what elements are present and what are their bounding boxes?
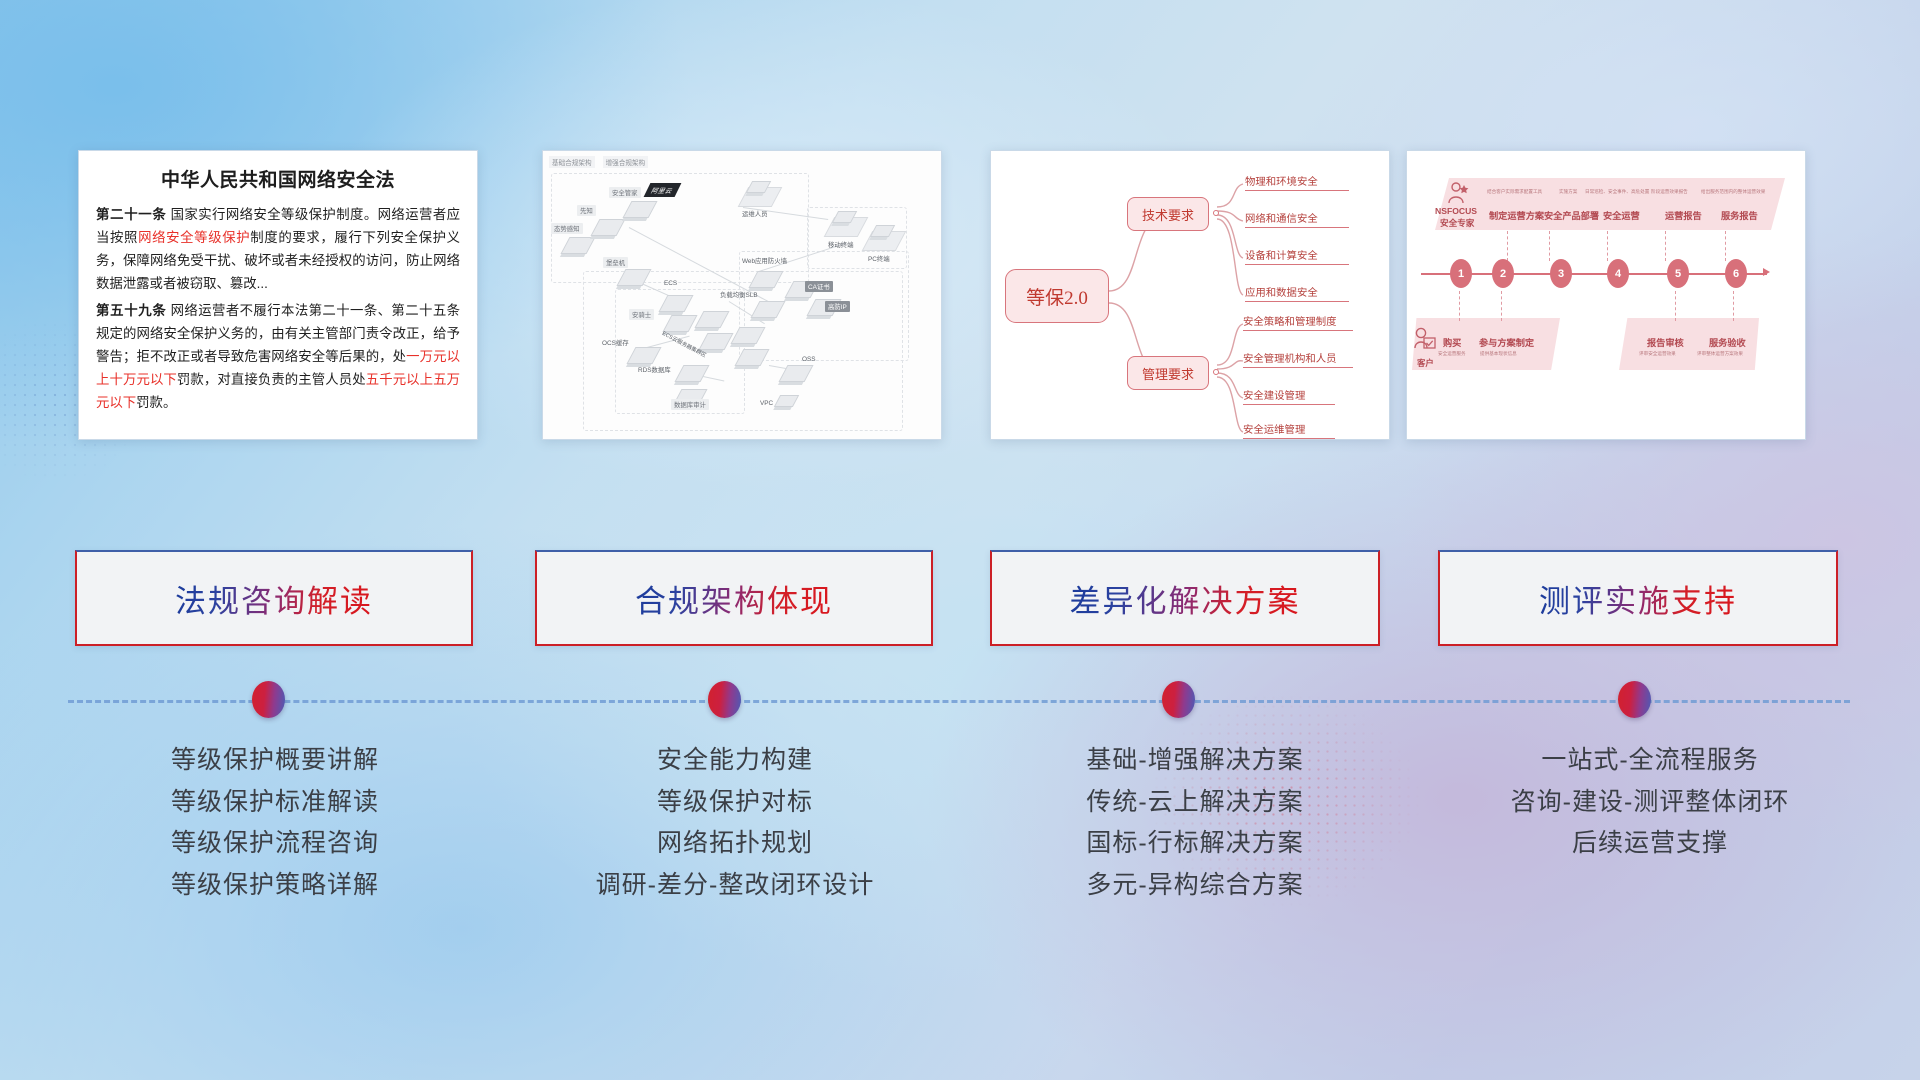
nsfocus-step-3: 3 <box>1550 259 1572 288</box>
heading-box-regulation-consulting[interactable]: 法规咨询解读 <box>75 550 473 646</box>
nsfocus-step-1: 1 <box>1450 259 1472 288</box>
list-item: 网络拓扑规划 <box>530 823 940 865</box>
label-oss: OSS <box>799 355 819 364</box>
tab-enhanced-architecture: 增强合规架构 <box>603 156 649 168</box>
label-ops-person: 运维人员 <box>739 208 771 219</box>
card-mindmap-dengbao[interactable]: 等保2.0 技术要求 管理要求 物理和环境安全 网络和通信安全 设备和计算安全 … <box>990 150 1390 440</box>
nsfocus-top-title-4: 运营报告 <box>1665 208 1702 222</box>
card-cloud-architecture[interactable]: 基础合规架构 增强合规架构 阿里云 运维人员 <box>542 150 942 440</box>
heading-label-2: 合规架构体现 <box>635 576 833 621</box>
label-mobile: 移动终端 <box>825 239 857 250</box>
article-21-label: 第二十一条 <box>96 207 167 222</box>
nsfocus-bottom-title-4: 服务验收 <box>1709 335 1746 349</box>
label-slb: 负载均衡SLB <box>717 289 761 300</box>
heading-label-1: 法规咨询解读 <box>175 576 373 621</box>
list-item: 咨询-建设-测评整体闭环 <box>1440 782 1860 824</box>
mindmap-leaf-policy-system: 安全策略和管理制度 <box>1243 313 1353 331</box>
list-item: 调研-差分-整改闭环设计 <box>530 865 940 907</box>
nsfocus-dash-5 <box>1725 231 1726 261</box>
screenshot-card-row: 中华人民共和国网络安全法 第二十一条 国家实行网络安全等级保护制度。网络运营者应… <box>0 150 1920 450</box>
label-rds: RDS数据库 <box>635 364 674 375</box>
nsfocus-customer-label: 客户 <box>1417 357 1434 369</box>
timeline-dashed-line <box>68 700 1850 703</box>
label-anqishi: 安骑士 <box>629 309 654 320</box>
detail-column-4: 一站式-全流程服务 咨询-建设-测评整体闭环 后续运营支撑 <box>1440 740 1860 865</box>
nsfocus-step-5: 5 <box>1667 259 1689 288</box>
label-security-butler: 安全管家 <box>609 187 641 198</box>
nsfocus-top-sub-5: 给出服务范围内的整体运营效果 <box>1701 189 1765 195</box>
nsfocus-bottom-title-2: 参与方案制定 <box>1479 335 1534 349</box>
article-21-highlight: 网络安全等级保护 <box>138 230 250 245</box>
nsfocus-dash-b4 <box>1733 291 1734 321</box>
law-document: 中华人民共和国网络安全法 第二十一条 国家实行网络安全等级保护制度。网络运营者应… <box>79 151 477 428</box>
label-situational-awareness: 态势感知 <box>551 223 583 234</box>
nsfocus-top-title-3: 安全运营 <box>1603 208 1640 222</box>
nsfocus-top-sub-3: 日常巡检、安全事件、高危处置 <box>1585 189 1649 195</box>
nsfocus-axis-arrow <box>1763 268 1770 276</box>
nsfocus-dash-4 <box>1665 231 1666 261</box>
detail-list-row: 等级保护概要讲解 等级保护标准解读 等级保护流程咨询 等级保护策略详解 安全能力… <box>0 740 1920 1000</box>
list-item: 传统-云上解决方案 <box>990 782 1400 824</box>
list-item: 等级保护策略详解 <box>75 865 475 907</box>
list-item: 国标-行标解决方案 <box>990 823 1400 865</box>
nsfocus-dash-2 <box>1549 231 1550 261</box>
label-anti-ddos: 高防IP <box>825 301 850 312</box>
detail-column-1: 等级保护概要讲解 等级保护标准解读 等级保护流程咨询 等级保护策略详解 <box>75 740 475 906</box>
nsfocus-top-sub-2: 实施方案 <box>1559 189 1577 195</box>
law-article-21: 第二十一条 国家实行网络安全等级保护制度。网络运营者应当按照网络安全等级保护制度… <box>96 203 460 295</box>
customer-person-icon <box>1413 327 1437 357</box>
law-title: 中华人民共和国网络安全法 <box>96 165 460 192</box>
label-ca-cert: CA证书 <box>805 281 833 292</box>
nsfocus-top-title-5: 服务报告 <box>1721 208 1758 222</box>
nsfocus-top-title-1: 制定运营方案 <box>1489 208 1544 222</box>
expert-person-icon <box>1445 181 1471 207</box>
nsfocus-expert-line1: NSFOCUS <box>1435 206 1477 216</box>
nsfocus-step-2: 2 <box>1492 259 1514 288</box>
mindmap-leaf-network-comm: 网络和通信安全 <box>1245 210 1349 228</box>
label-waf: Web应用防火墙 <box>739 255 790 266</box>
nsfocus-dash-1 <box>1507 231 1508 261</box>
heading-box-row: 法规咨询解读 合规架构体现 差异化解决方案 测评实施支持 <box>0 550 1920 650</box>
mindmap-collapse-dot-management[interactable] <box>1213 369 1219 375</box>
timeline-dot-2[interactable] <box>708 681 741 718</box>
mindmap-leaf-app-data: 应用和数据安全 <box>1245 284 1349 302</box>
nsfocus-bottom-sub-3: 评审安全运营效果 <box>1639 351 1676 357</box>
heading-label-3: 差异化解决方案 <box>1070 576 1301 621</box>
card-cybersecurity-law[interactable]: 中华人民共和国网络安全法 第二十一条 国家实行网络安全等级保护制度。网络运营者应… <box>78 150 478 440</box>
heading-box-differentiated-solution[interactable]: 差异化解决方案 <box>990 550 1380 646</box>
label-xianzhi: 先知 <box>577 205 596 216</box>
nsfocus-axis-line <box>1421 273 1767 275</box>
law-article-59: 第五十九条 网络运营者不履行本法第二十一条、第二十五条规定的网络安全保护义务的，… <box>96 299 460 414</box>
label-bastion-host: 堡垒机 <box>603 257 628 268</box>
list-item: 等级保护流程咨询 <box>75 823 475 865</box>
nsfocus-bottom-title-3: 报告审核 <box>1647 335 1684 349</box>
mindmap-collapse-dot-technical[interactable] <box>1213 210 1219 216</box>
nsfocus-dash-b3 <box>1675 291 1676 321</box>
nsfocus-dash-b1 <box>1459 291 1460 321</box>
nsfocus-dash-b2 <box>1501 291 1502 321</box>
heading-box-compliance-architecture[interactable]: 合规架构体现 <box>535 550 933 646</box>
mindmap-branch-technical: 技术要求 <box>1127 197 1209 231</box>
mindmap-leaf-physical-env: 物理和环境安全 <box>1245 173 1349 191</box>
nsfocus-top-band <box>1435 178 1785 230</box>
architecture-diagram: 基础合规架构 增强合规架构 阿里云 运维人员 <box>543 151 941 439</box>
heading-label-4: 测评实施支持 <box>1539 576 1737 621</box>
detail-column-3: 基础-增强解决方案 传统-云上解决方案 国标-行标解决方案 多元-异构综合方案 <box>990 740 1400 906</box>
nsfocus-bottom-sub-2: 提供基本现状信息 <box>1480 351 1517 357</box>
mindmap-branch-management: 管理要求 <box>1127 356 1209 390</box>
article-59-label: 第五十九条 <box>96 303 167 318</box>
nsfocus-top-sub-4: 阶段运营效果报告 <box>1651 189 1688 195</box>
mindmap-diagram: 等保2.0 技术要求 管理要求 物理和环境安全 网络和通信安全 设备和计算安全 … <box>991 151 1389 439</box>
card-nsfocus-timeline[interactable]: NSFOCUS 安全专家 结合客户实际需求配置工具 制定运营方案 实施方案 安全… <box>1406 150 1806 440</box>
article-59-text-b: 罚款，对直接负责的主管人员处 <box>177 372 366 387</box>
timeline-dot-4[interactable] <box>1618 681 1651 718</box>
nsfocus-step-4: 4 <box>1607 259 1629 288</box>
mindmap-leaf-build-mgmt: 安全建设管理 <box>1243 387 1335 405</box>
architecture-tabs: 基础合规架构 增强合规架构 <box>549 156 648 168</box>
nsfocus-diagram: NSFOCUS 安全专家 结合客户实际需求配置工具 制定运营方案 实施方案 安全… <box>1407 151 1805 439</box>
nsfocus-top-sub-1: 结合客户实际需求配置工具 <box>1487 189 1542 195</box>
mindmap-leaf-org-personnel: 安全管理机构和人员 <box>1243 350 1353 368</box>
mindmap-leaf-ops-mgmt: 安全运维管理 <box>1243 421 1335 439</box>
list-item: 多元-异构综合方案 <box>990 865 1400 907</box>
nsfocus-step-6: 6 <box>1725 259 1747 288</box>
label-pc: PC终端 <box>865 253 893 264</box>
list-item: 等级保护标准解读 <box>75 782 475 824</box>
timeline <box>0 697 1920 705</box>
article-59-text-c: 罚款。 <box>136 395 176 410</box>
label-ecs: ECS <box>661 279 680 288</box>
detail-column-2: 安全能力构建 等级保护对标 网络拓扑规划 调研-差分-整改闭环设计 <box>530 740 940 906</box>
timeline-dot-1[interactable] <box>252 681 285 718</box>
nsfocus-bottom-sub-4: 评审整体运营方案效果 <box>1697 351 1743 357</box>
label-ocs-cache: OCS缓存 <box>599 337 632 348</box>
nsfocus-bottom-title-1: 购买 <box>1443 335 1461 349</box>
nsfocus-bottom-sub-1: 安全运营服务 <box>1438 351 1466 357</box>
list-item: 等级保护对标 <box>530 782 940 824</box>
list-item: 一站式-全流程服务 <box>1440 740 1860 782</box>
nsfocus-top-title-2: 安全产品部署 <box>1544 208 1599 222</box>
label-vpc: VPC <box>757 399 776 408</box>
mindmap-leaf-device-compute: 设备和计算安全 <box>1245 247 1349 265</box>
tab-basic-architecture: 基础合规架构 <box>549 156 595 168</box>
list-item: 等级保护概要讲解 <box>75 740 475 782</box>
timeline-dot-3[interactable] <box>1162 681 1195 718</box>
nsfocus-dash-3 <box>1607 231 1608 261</box>
mindmap-root: 等保2.0 <box>1005 269 1109 323</box>
heading-box-assessment-support[interactable]: 测评实施支持 <box>1438 550 1838 646</box>
nsfocus-expert-line2: 安全专家 <box>1440 217 1474 229</box>
list-item: 后续运营支撑 <box>1440 823 1860 865</box>
label-db-audit: 数据库审计 <box>671 399 709 410</box>
list-item: 安全能力构建 <box>530 740 940 782</box>
list-item: 基础-增强解决方案 <box>990 740 1400 782</box>
